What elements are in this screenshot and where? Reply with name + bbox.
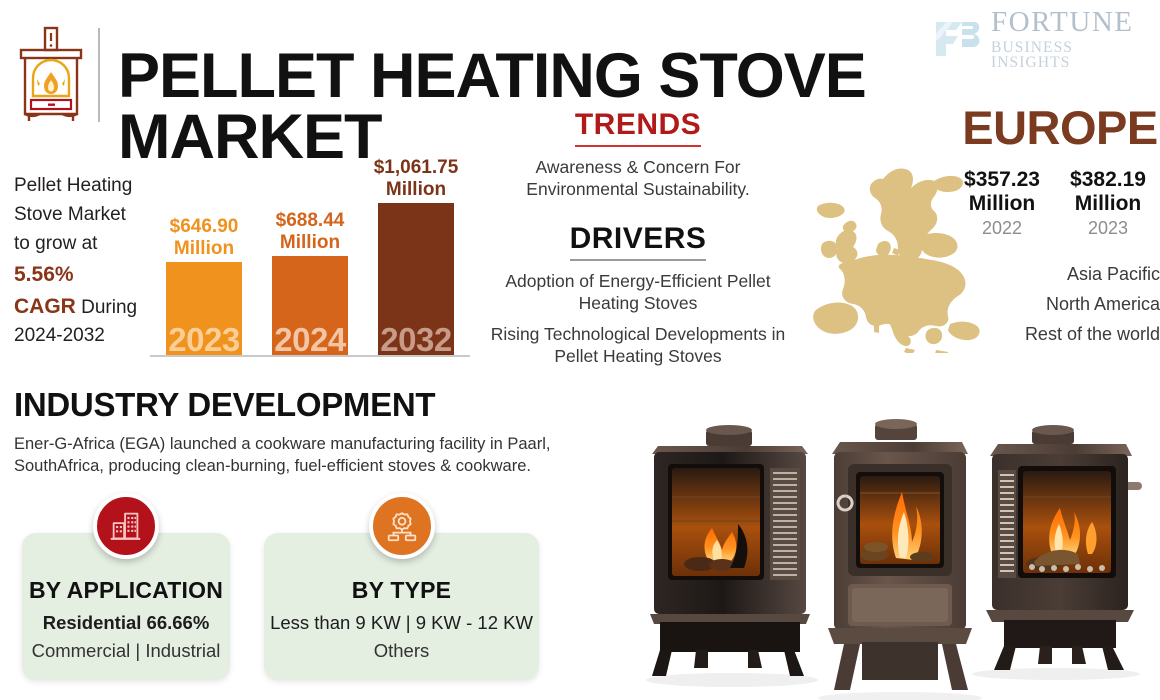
bar-column: $646.90 Million 2023	[166, 262, 242, 355]
figure-unit: Million	[956, 192, 1048, 216]
bar-value-label: $1,061.75	[374, 157, 459, 178]
buildings-icon	[93, 493, 159, 559]
trends-item: Awareness & Concern For Environmental Su…	[478, 156, 798, 200]
drivers-item: Rising Technological Developments in Pel…	[478, 323, 798, 367]
header-divider	[98, 28, 100, 122]
bar-year-label: 2024	[272, 321, 348, 359]
stove-product-photos	[612, 412, 1160, 700]
segment-title: BY APPLICATION	[22, 577, 230, 604]
bar-year-label: 2032	[378, 321, 454, 359]
stove-photo-left	[646, 425, 818, 687]
region-figure: $382.19 Million 2023	[1062, 168, 1154, 239]
region-list-item: North America	[960, 290, 1160, 320]
figure-unit: Million	[1062, 192, 1154, 216]
region-heading: EUROPE	[960, 100, 1160, 155]
bar-column: $688.44 Million 2024	[272, 256, 348, 355]
market-size-bar-chart: $646.90 Million 2023 $688.44 Million 202…	[150, 170, 470, 365]
bar-unit-label: Million	[386, 179, 446, 200]
cagr-metric-label: CAGR	[14, 295, 76, 318]
industry-text-line: Ener-G-Africa (EGA) launched a cookware …	[14, 433, 614, 455]
regional-highlights: EUROPE	[810, 100, 1160, 380]
drivers-heading: DRIVERS	[570, 222, 707, 261]
fortune-business-insights-logo: FORTUNE BUSINESS INSIGHTS	[932, 10, 1146, 68]
pellet-stove-icon	[14, 22, 88, 126]
industry-text-line: SouthAfrica, producing clean-burning, fu…	[14, 455, 614, 477]
cagr-during-label: During	[81, 297, 137, 318]
region-figures: $357.23 Million 2022 $382.19 Million 202…	[950, 168, 1160, 239]
bar-column: $1,061.75 Million 2032	[378, 203, 454, 355]
industry-development-body: Ener-G-Africa (EGA) launched a cookware …	[14, 433, 614, 478]
bar-unit-label: Million	[174, 238, 234, 259]
drivers-item: Adoption of Energy-Efficient Pellet Heat…	[478, 270, 798, 314]
figure-amount: $357.23	[956, 168, 1048, 192]
stove-photo-right	[972, 425, 1142, 680]
region-list-item: Asia Pacific	[960, 260, 1160, 290]
region-figure: $357.23 Million 2022	[956, 168, 1048, 239]
bar-unit-label: Million	[280, 232, 340, 253]
chart-baseline	[150, 355, 470, 357]
cagr-line-3: to grow at	[14, 230, 166, 259]
segment-primary-value: Residential 66.66%	[22, 612, 230, 634]
infographic-page: PELLET HEATING STOVE MARKET FORTUNE BUSI…	[0, 0, 1160, 700]
stove-photo-middle	[818, 419, 982, 700]
segment-card-application: BY APPLICATION Residential 66.66% Commer…	[22, 533, 230, 680]
segment-primary-value: Less than 9 KW | 9 KW - 12 KW	[264, 612, 539, 634]
segment-secondary-value: Others	[264, 640, 539, 662]
cagr-line-2: Stove Market	[14, 201, 166, 230]
figure-year: 2022	[956, 218, 1048, 239]
logo-name: FORTUNE	[991, 8, 1146, 37]
trends-and-drivers: TRENDS Awareness & Concern For Environme…	[478, 108, 798, 367]
logo-tagline: BUSINESS INSIGHTS	[991, 40, 1146, 71]
cagr-line-1: Pellet Heating	[14, 172, 166, 201]
industry-development-heading: INDUSTRY DEVELOPMENT	[14, 386, 614, 424]
figure-year: 2023	[1062, 218, 1154, 239]
cagr-period: 2024-2032	[14, 322, 166, 351]
segment-card-type: BY TYPE Less than 9 KW | 9 KW - 12 KW Ot…	[264, 533, 539, 680]
bar-year-label: 2023	[166, 321, 242, 359]
cagr-summary: Pellet Heating Stove Market to grow at 5…	[14, 172, 166, 351]
segment-title: BY TYPE	[264, 577, 539, 604]
cagr-rate: 5.56%	[14, 263, 74, 286]
trends-heading: TRENDS	[575, 108, 701, 147]
other-regions-list: Asia Pacific North America Rest of the w…	[960, 260, 1160, 350]
segment-secondary-value: Commercial | Industrial	[22, 640, 230, 662]
fb-monogram-icon	[932, 16, 984, 62]
figure-amount: $382.19	[1062, 168, 1154, 192]
bar-value-label: $688.44	[276, 210, 345, 231]
region-list-item: Rest of the world	[960, 320, 1160, 350]
bar-value-label: $646.90	[170, 216, 239, 237]
gear-hierarchy-icon	[369, 493, 435, 559]
industry-development: INDUSTRY DEVELOPMENT Ener-G-Africa (EGA)…	[14, 386, 614, 478]
